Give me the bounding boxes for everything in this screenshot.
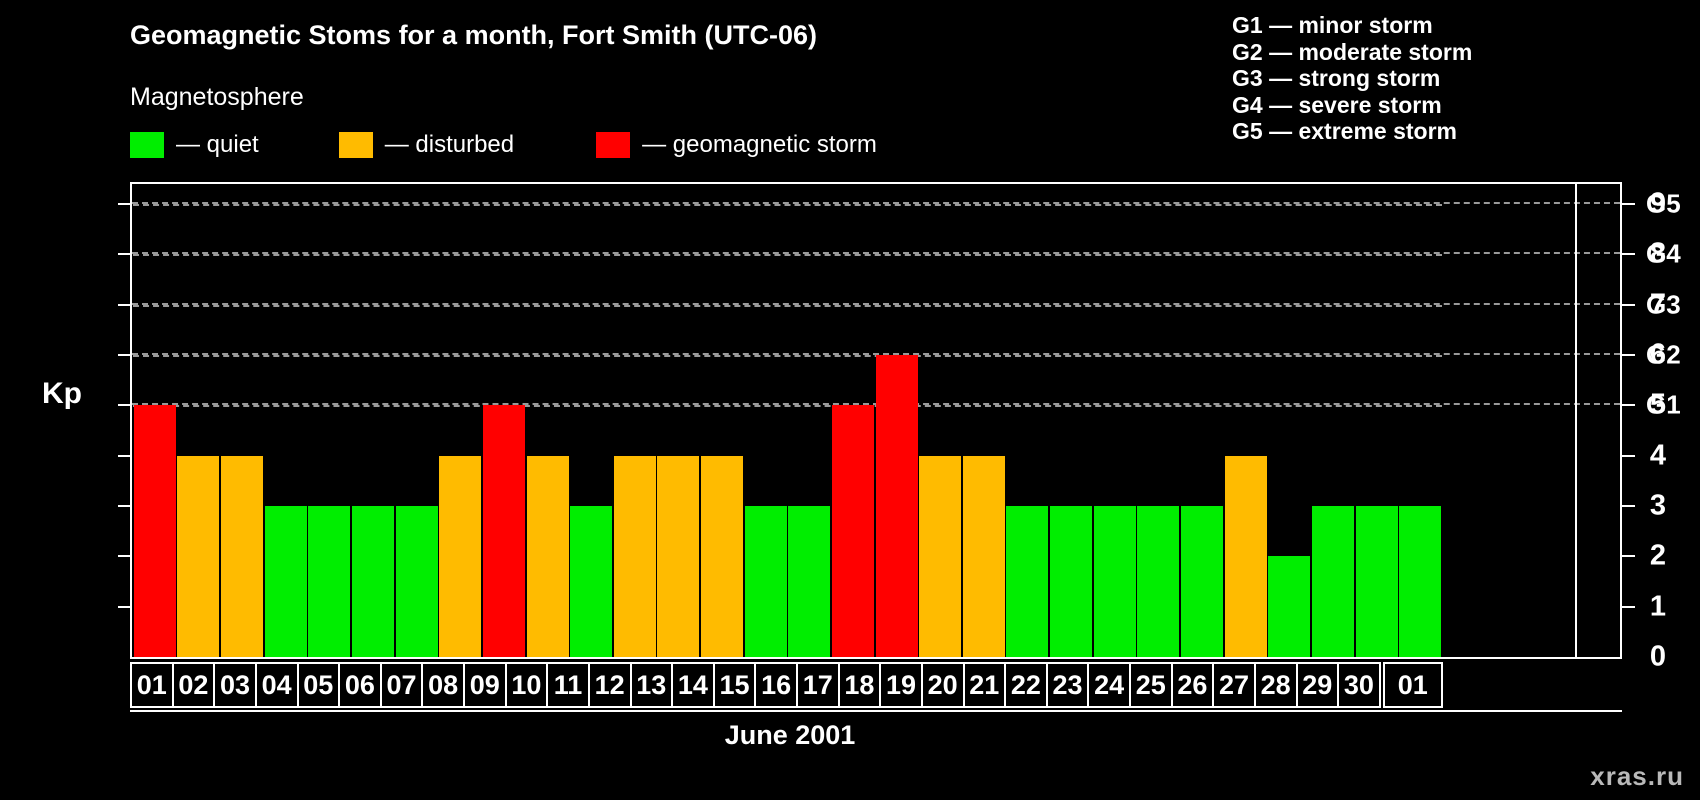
x-axis-day-3[interactable]: 04 [255, 662, 299, 708]
red-swatch-icon [596, 132, 630, 158]
x-axis-day-labels: 0102030405060708091011121314151617181920… [130, 662, 1441, 708]
g-tick-mark-kp-8 [1622, 253, 1635, 255]
plot-divider [1575, 184, 1577, 657]
y-tick-mark-3 [118, 505, 131, 507]
y-tick-mark-7 [118, 304, 131, 306]
g-tick-mark-kp-1 [1622, 606, 1635, 608]
y-tick-label-1: 1 [1606, 590, 1666, 623]
legend-label-storm: — geomagnetic storm [642, 131, 877, 159]
y-tick-mark-1 [118, 606, 131, 608]
g-tick-mark-kp-4 [1622, 455, 1635, 457]
legend: — quiet — disturbed — geomagnetic storm [130, 131, 877, 159]
x-axis-day-11[interactable]: 12 [588, 662, 632, 708]
g-tick-mark-kp-3 [1622, 505, 1635, 507]
g-tick-mark-kp-7 [1622, 304, 1635, 306]
g-tick-label-G4: G4 [1646, 239, 1681, 270]
bar-day-01[interactable] [134, 405, 176, 657]
y-tick-label-2: 2 [1606, 540, 1666, 573]
bar-day-30[interactable] [1399, 506, 1441, 657]
bar-day-17[interactable] [832, 405, 874, 657]
y-tick-mark-5 [118, 404, 131, 406]
page-title: Geomagnetic Stoms for a month, Fort Smit… [130, 20, 817, 51]
x-axis-day-19[interactable]: 20 [921, 662, 965, 708]
y-tick-mark-4 [118, 455, 131, 457]
x-axis-day-15[interactable]: 16 [754, 662, 798, 708]
bar-day-04[interactable] [265, 506, 307, 657]
bar-day-09[interactable] [483, 405, 525, 657]
g-tick-mark-kp-5 [1622, 404, 1635, 406]
plot-area [133, 184, 1442, 657]
g-tick-mark-kp-9 [1622, 203, 1635, 205]
x-axis-day-24[interactable]: 25 [1129, 662, 1173, 708]
g-tick-label-G3: G3 [1646, 289, 1681, 320]
bar-day-15[interactable] [745, 506, 787, 657]
bar-day-16[interactable] [788, 506, 830, 657]
x-axis-day-6[interactable]: 07 [380, 662, 424, 708]
watermark: xras.ru [1590, 761, 1684, 792]
x-axis-title-text: June 2001 [725, 720, 856, 750]
gridline-kp-9 [133, 204, 1442, 206]
y-tick-mark-9 [118, 203, 131, 205]
green-swatch-icon [130, 132, 164, 158]
bar-day-13[interactable] [657, 456, 699, 657]
x-axis-title: June 2001 [0, 720, 1700, 751]
x-axis-day-14[interactable]: 15 [713, 662, 757, 708]
x-axis-day-13[interactable]: 14 [671, 662, 715, 708]
gridline-kp-7 [133, 305, 1442, 307]
x-axis-day-22[interactable]: 23 [1046, 662, 1090, 708]
x-axis-day-0[interactable]: 01 [130, 662, 174, 708]
x-axis-day-8[interactable]: 09 [463, 662, 507, 708]
y-tick-label-4: 4 [1606, 439, 1666, 472]
y-tick-label-3: 3 [1606, 490, 1666, 523]
storm-scale-g1: G1 — minor storm [1232, 12, 1472, 39]
x-axis-day-25[interactable]: 26 [1171, 662, 1215, 708]
y-tick-mark-8 [118, 253, 131, 255]
bar-day-07[interactable] [396, 506, 438, 657]
storm-scale-g4: G4 — severe storm [1232, 92, 1472, 119]
x-axis-day-29[interactable]: 30 [1337, 662, 1381, 708]
x-axis-day-27[interactable]: 28 [1254, 662, 1298, 708]
x-axis-day-2[interactable]: 03 [213, 662, 257, 708]
legend-label-disturbed: — disturbed [385, 131, 514, 159]
x-axis-day-10[interactable]: 11 [546, 662, 590, 708]
y-tick-mark-6 [118, 354, 131, 356]
legend-item-disturbed: — disturbed [339, 131, 514, 159]
x-axis-day-18[interactable]: 19 [879, 662, 923, 708]
bar-day-18[interactable] [876, 355, 918, 657]
x-axis-day-17[interactable]: 18 [838, 662, 882, 708]
y-tick-label-0: 0 [1606, 641, 1666, 674]
bar-day-08[interactable] [439, 456, 481, 657]
bar-day-06[interactable] [352, 506, 394, 657]
legend-label-quiet: — quiet [176, 131, 259, 159]
legend-item-quiet: — quiet [130, 131, 259, 159]
x-axis-day-7[interactable]: 08 [421, 662, 465, 708]
y-tick-mark-2 [118, 555, 131, 557]
x-axis-day-4[interactable]: 05 [297, 662, 341, 708]
x-axis-day-23[interactable]: 24 [1087, 662, 1131, 708]
gridline-kp-6 [133, 355, 1442, 357]
g-tick-label-G2: G2 [1646, 340, 1681, 371]
bar-day-05[interactable] [308, 506, 350, 657]
x-axis-day-20[interactable]: 21 [963, 662, 1007, 708]
bar-day-21[interactable] [1006, 506, 1048, 657]
bar-day-14[interactable] [701, 456, 743, 657]
bar-day-25[interactable] [1181, 506, 1223, 657]
x-axis-day-5[interactable]: 06 [338, 662, 382, 708]
bar-day-11[interactable] [570, 506, 612, 657]
bar-day-20[interactable] [963, 456, 1005, 657]
storm-scale-g5: G5 — extreme storm [1232, 118, 1472, 145]
g-tick-label-G1: G1 [1646, 390, 1681, 421]
bar-day-23[interactable] [1094, 506, 1136, 657]
x-axis-day-1[interactable]: 02 [172, 662, 216, 708]
legend-item-storm: — geomagnetic storm [596, 131, 877, 159]
bar-day-29[interactable] [1356, 506, 1398, 657]
bar-day-03[interactable] [221, 456, 263, 657]
bar-day-12[interactable] [614, 456, 656, 657]
gridline-kp-5 [133, 405, 1442, 407]
bar-day-26[interactable] [1225, 456, 1267, 657]
storm-scale-g3: G3 — strong storm [1232, 65, 1472, 92]
g-tick-mark-kp-6 [1622, 354, 1635, 356]
x-axis-day-16[interactable]: 17 [796, 662, 840, 708]
orange-swatch-icon [339, 132, 373, 158]
g-tick-mark-kp-2 [1622, 555, 1635, 557]
bar-day-27[interactable] [1268, 556, 1310, 657]
x-axis-day-12[interactable]: 13 [630, 662, 674, 708]
x-axis-day-21[interactable]: 22 [1004, 662, 1048, 708]
bar-day-22[interactable] [1050, 506, 1092, 657]
g-tick-label-G5: G5 [1646, 189, 1681, 220]
storm-scale-g2: G2 — moderate storm [1232, 39, 1472, 66]
legend-heading: Magnetosphere [130, 83, 304, 112]
x-axis-rule [130, 710, 1622, 712]
bar-day-10[interactable] [527, 456, 569, 657]
storm-scale-key: G1 — minor storm G2 — moderate storm G3 … [1232, 12, 1472, 145]
bar-day-24[interactable] [1137, 506, 1179, 657]
x-axis-day-26[interactable]: 27 [1212, 662, 1256, 708]
y-axis-title: Kp [42, 377, 82, 411]
gridline-kp-8 [133, 254, 1442, 256]
x-axis-day-30[interactable]: 01 [1383, 662, 1443, 708]
bar-day-28[interactable] [1312, 506, 1354, 657]
bar-day-02[interactable] [177, 456, 219, 657]
x-axis-day-28[interactable]: 29 [1296, 662, 1340, 708]
x-axis-day-9[interactable]: 10 [505, 662, 549, 708]
bar-day-19[interactable] [919, 456, 961, 657]
